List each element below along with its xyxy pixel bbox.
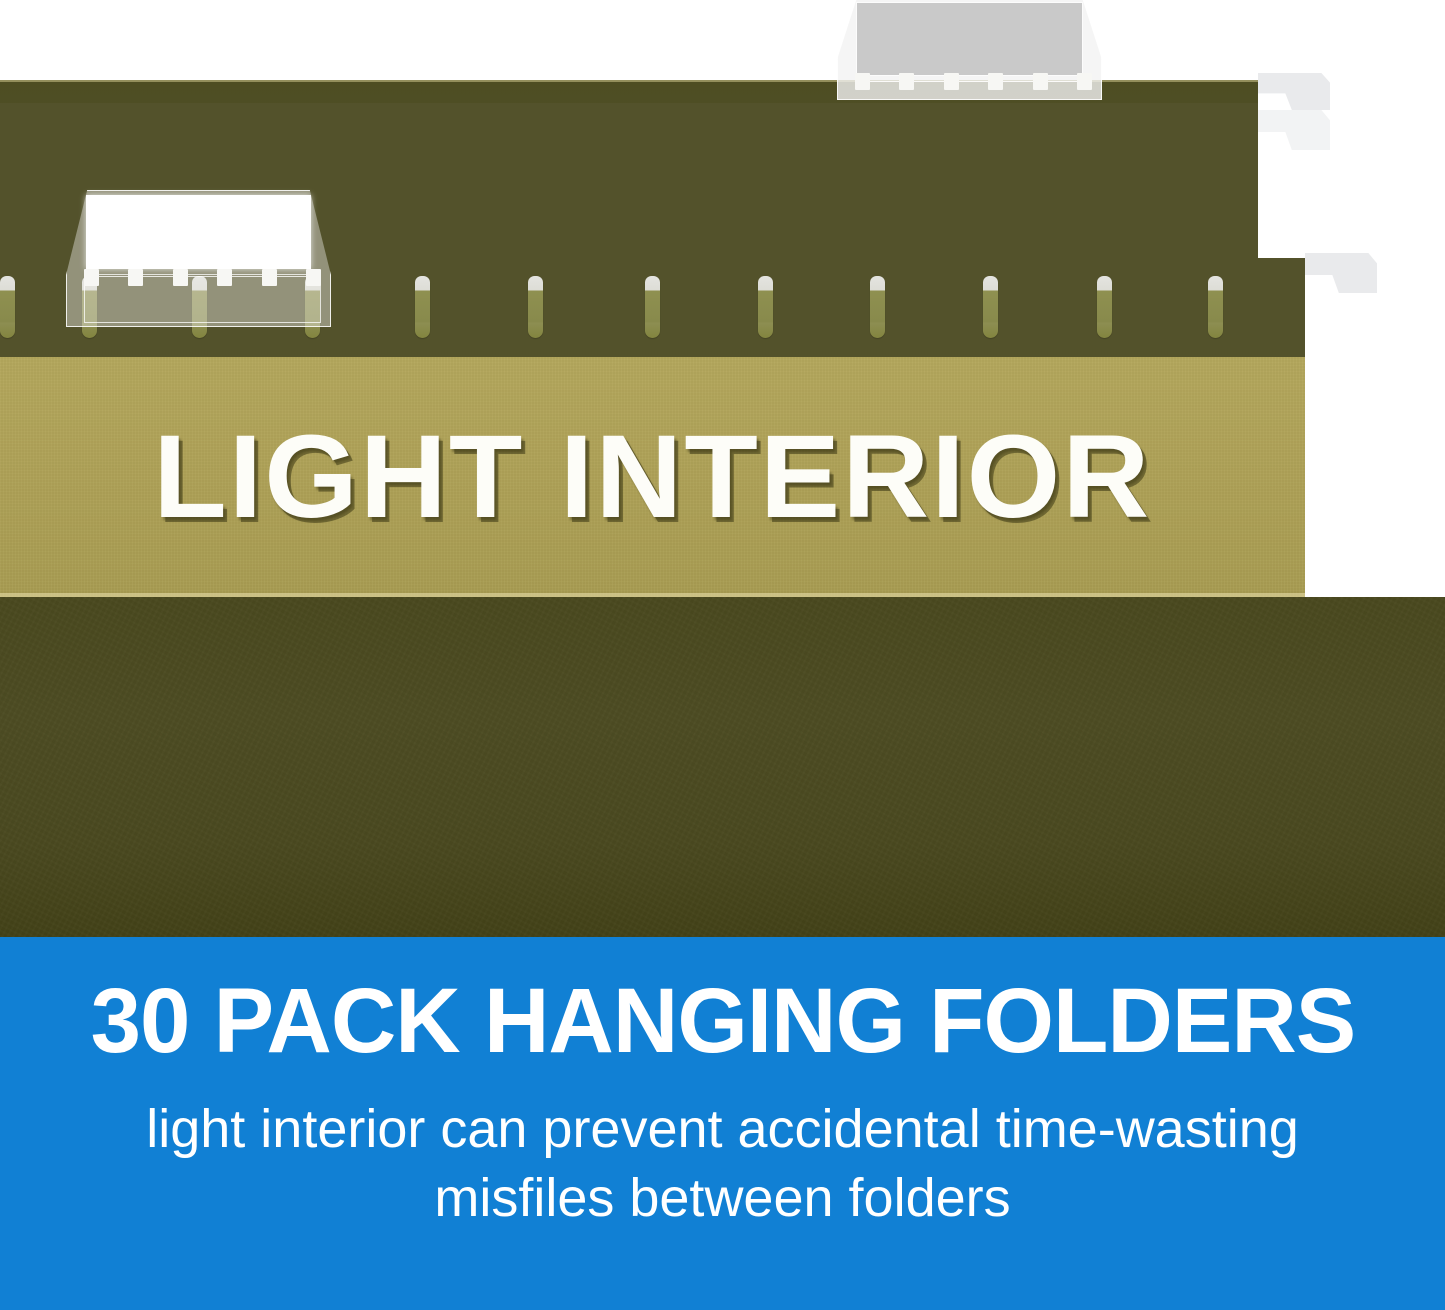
tab-tooth (262, 269, 277, 286)
light-interior-callout: LIGHT INTERIOR (0, 357, 1305, 597)
tab-slot (758, 276, 773, 338)
tab-tooth (306, 269, 321, 286)
banner-subtext-line-1: light interior can prevent accidental ti… (53, 1095, 1393, 1164)
tab-tooth (944, 73, 959, 90)
product-image-canvas: LIGHT INTERIOR (0, 0, 1445, 1310)
tab-tooth (899, 73, 914, 90)
banner-subtext: light interior can prevent accidental ti… (53, 1095, 1393, 1233)
tab-tooth (128, 269, 143, 286)
tab-slot (870, 276, 885, 338)
tab-slot (1208, 276, 1223, 338)
tab-teeth (855, 70, 1092, 92)
tab-slot (528, 276, 543, 338)
light-interior-label: LIGHT INTERIOR (153, 409, 1151, 545)
tab-tooth (173, 269, 188, 286)
tab-slot (1097, 276, 1112, 338)
tab-tooth (855, 73, 870, 90)
tab-tooth (1077, 73, 1092, 90)
folder-tab-left (66, 190, 331, 327)
tab-tooth (217, 269, 232, 286)
tab-slot (415, 276, 430, 338)
tab-insert-label (86, 195, 311, 269)
tab-tooth (84, 269, 99, 286)
banner-subtext-line-2: misfiles between folders (53, 1164, 1393, 1233)
tab-slot (983, 276, 998, 338)
tab-slot (0, 276, 15, 338)
tab-tooth (1033, 73, 1048, 90)
folder-tab-top (837, 0, 1102, 100)
banner-headline: 30 PACK HANGING FOLDERS (90, 975, 1355, 1067)
marketing-banner: 30 PACK HANGING FOLDERS light interior c… (0, 937, 1445, 1310)
tab-tooth (988, 73, 1003, 90)
tab-insert-label (856, 2, 1083, 76)
front-folder-panel (0, 597, 1445, 937)
tab-teeth (84, 266, 321, 288)
tab-slot (645, 276, 660, 338)
